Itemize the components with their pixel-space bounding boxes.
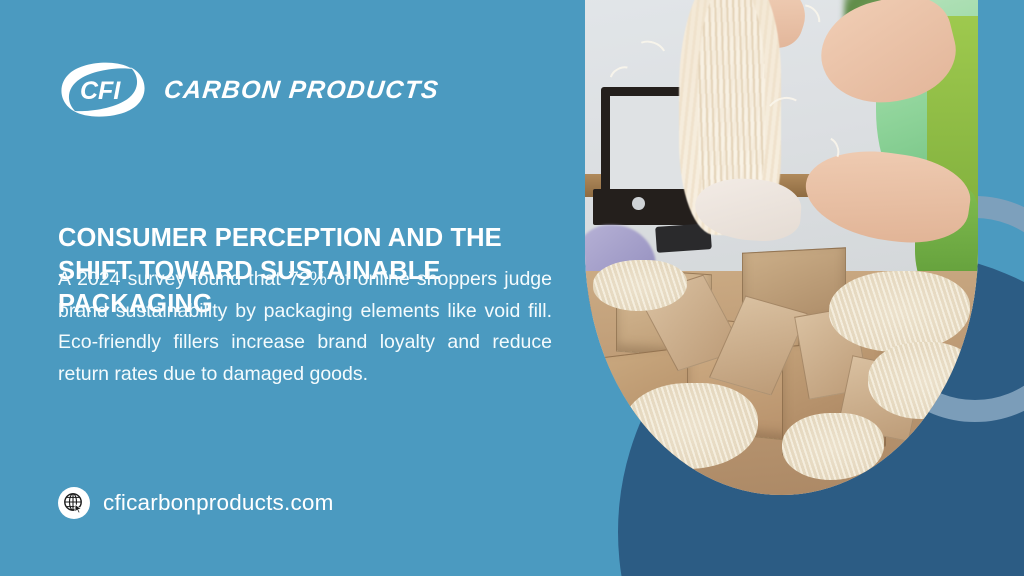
body-paragraph: A 2024 survey found that 72% of online s… xyxy=(58,264,552,390)
svg-text:CFI: CFI xyxy=(80,77,121,105)
marketing-slide: CFI CARBON PRODUCTS CONSUMER PERCEPTION … xyxy=(0,0,1024,576)
photo-press-knob xyxy=(632,197,645,210)
globe-cursor-icon xyxy=(58,487,90,519)
photo-void-fill xyxy=(782,413,884,479)
photo-void-fill xyxy=(868,342,978,419)
hero-photo-illustration xyxy=(585,0,978,495)
brand-logo[interactable]: CFI CARBON PRODUCTS xyxy=(58,61,439,119)
cfi-swoosh-icon: CFI xyxy=(58,61,150,119)
body-paragraph-text: A 2024 survey found that 72% of online s… xyxy=(58,264,552,390)
hero-photo-arch xyxy=(585,0,978,495)
logo-wordmark: CARBON PRODUCTS xyxy=(162,76,440,105)
website-url-text: cficarbonproducts.com xyxy=(103,490,334,516)
website-link[interactable]: cficarbonproducts.com xyxy=(58,487,334,519)
